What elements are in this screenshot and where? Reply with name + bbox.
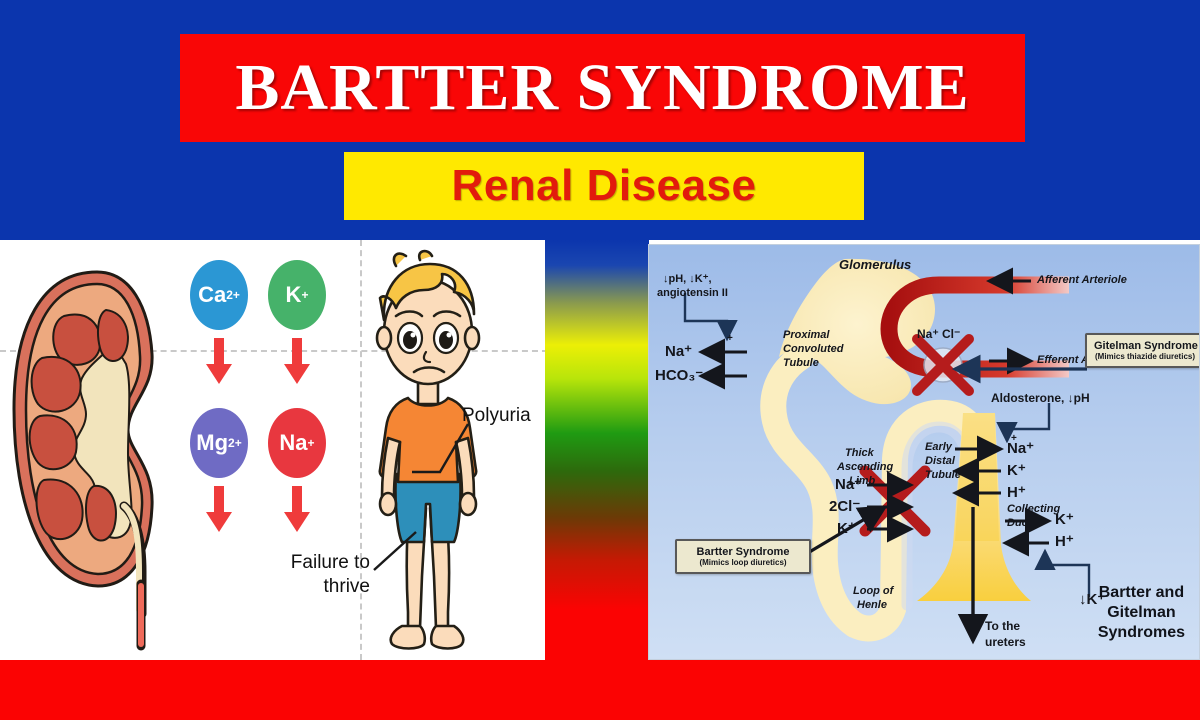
label-early-distal-line1: Early [925, 441, 952, 454]
label-plus-pct: + [727, 333, 733, 345]
ion-potassium: K+ [268, 260, 326, 330]
ion-calcium: Ca2+ [190, 260, 248, 330]
arrow-down-icon [284, 338, 310, 384]
label-collecting-duct-line1: Collecting [1007, 503, 1060, 516]
kidney-icon [2, 254, 182, 654]
nephron-diagram-panel: ↓pH, ↓K⁺, angiotensin II + Na⁺ HCO₃⁻ Glo… [648, 244, 1200, 660]
gitelman-syndrome-box: Gitelman Syndrome (Mimics thiazide diure… [1085, 333, 1200, 368]
label-tal-na: Na⁺ [835, 476, 862, 494]
bartter-box-title: Bartter Syndrome [684, 546, 802, 558]
gitelman-box-title: Gitelman Syndrome [1094, 340, 1196, 352]
ion-potassium-label: K [286, 282, 302, 308]
page-subtitle: Renal Disease [452, 161, 757, 211]
label-to-ureters-line2: ureters [985, 635, 1026, 649]
label-loop-of-henle-line2: Henle [857, 599, 887, 612]
bartter-box-subtitle: (Mimics loop diuretics) [684, 558, 802, 567]
footer-strip [0, 660, 1200, 720]
corner-title-line2: Gitelman [1098, 603, 1185, 623]
corner-title: Bartter and Gitelman Syndromes [1098, 583, 1185, 643]
ion-sodium: Na+ [268, 408, 326, 478]
infographic-stage: BARTTER SYNDROME Renal Disease [0, 0, 1200, 720]
label-tal-k: K⁺ [837, 520, 856, 538]
ion-sodium-label: Na [279, 430, 307, 456]
corner-title-line1: Bartter and [1098, 583, 1185, 603]
header-banner: BARTTER SYNDROME Renal Disease [0, 0, 1200, 240]
label-proximal-tubule-line3: Tubule [783, 357, 819, 370]
label-early-distal-line3: Tubule [925, 469, 961, 482]
label-collecting-duct-line2: Duct [1007, 517, 1031, 530]
label-cd-h: H⁺ [1007, 484, 1026, 502]
label-tal-2cl: 2Cl⁻ [829, 498, 860, 516]
ion-magnesium-charge: 2+ [228, 436, 242, 450]
label-pct-hco3: HCO₃⁻ [655, 367, 703, 385]
polyuria-leader-line [410, 420, 480, 490]
corner-title-line3: Syndromes [1098, 623, 1185, 643]
ion-calcium-charge: 2+ [226, 288, 240, 302]
annotation-failure-to-thrive-line2: thrive [286, 576, 370, 598]
label-dct-nacl: Na⁺ Cl⁻ [917, 327, 960, 341]
annotation-failure-to-thrive-line1: Failure to [286, 552, 370, 574]
arrow-down-icon [206, 338, 232, 384]
failure-to-thrive-leader-line [372, 530, 418, 576]
rainbow-gradient-divider [545, 240, 649, 660]
label-early-distal-line2: Distal [925, 455, 955, 468]
label-cd-k: K⁺ [1007, 462, 1026, 480]
gitelman-box-subtitle: (Mimics thiazide diuretics) [1094, 352, 1196, 361]
label-stimulus-line1: ↓pH, ↓K⁺, [663, 273, 712, 286]
subtitle-plate: Renal Disease [344, 152, 864, 220]
label-thick-ascending-line1: Thick [845, 447, 874, 460]
label-cd-na: Na⁺ [1007, 440, 1034, 458]
page-title: BARTTER SYNDROME [235, 50, 969, 126]
label-to-ureters-line1: To the [985, 619, 1020, 633]
title-plate: BARTTER SYNDROME [180, 34, 1025, 142]
ion-potassium-charge: + [301, 288, 308, 302]
label-duct-h: H⁺ [1055, 533, 1074, 551]
label-pct-na: Na⁺ [665, 343, 692, 361]
label-proximal-tubule-line1: Proximal [783, 329, 829, 342]
arrow-down-icon [284, 486, 310, 532]
label-aldosterone: Aldosterone, ↓pH [991, 391, 1090, 405]
arrow-down-icon [206, 486, 232, 532]
ion-magnesium: Mg2+ [190, 408, 248, 478]
label-afferent-arteriole: Afferent Arteriole [1037, 274, 1127, 287]
label-glomerulus: Glomerulus [839, 257, 911, 273]
ion-magnesium-label: Mg [196, 430, 228, 456]
label-thick-ascending-line2: Ascending [837, 461, 893, 474]
ion-sodium-charge: + [308, 436, 315, 450]
bartter-syndrome-box: Bartter Syndrome (Mimics loop diuretics) [675, 539, 811, 574]
left-illustration-panel: Ca2+ K+ Mg2+ Na+ [0, 240, 548, 660]
label-proximal-tubule-line2: Convoluted [783, 343, 844, 356]
label-stimulus-line2: angiotensin II [657, 287, 728, 300]
label-loop-of-henle-line1: Loop of [853, 585, 893, 598]
ion-calcium-label: Ca [198, 282, 226, 308]
label-duct-k: K⁺ [1055, 511, 1074, 529]
